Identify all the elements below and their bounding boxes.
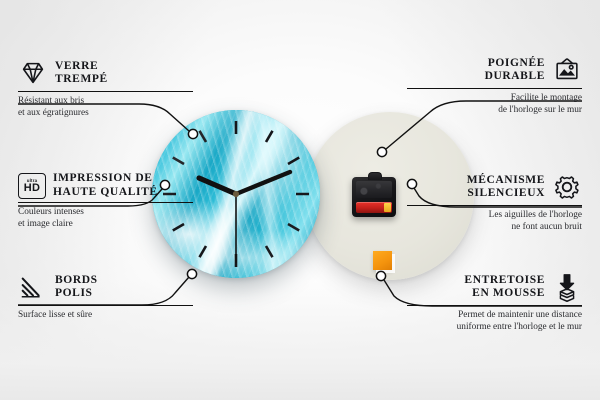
feature-desc-entretoise: Permet de maintenir une distance uniform… — [407, 310, 582, 333]
diamond-icon — [18, 58, 48, 88]
feature-mecanisme-silencieux[interactable]: MÉCANISME SILENCIEUX Les aiguilles de l'… — [407, 172, 582, 233]
feature-title-impression: IMPRESSION DE HAUTE QUALITÉ — [53, 172, 158, 199]
feature-title-poignee: POIGNÉE DURABLE — [485, 57, 545, 84]
feature-title-bords-polis: BORDS POLIS — [55, 274, 98, 301]
feature-title-verre-trempe: VERRE TREMPÉ — [55, 60, 108, 87]
picture-hanger-icon — [552, 55, 582, 85]
ultra-hd-icon-large-label: HD — [24, 183, 41, 194]
foam-spacer-icon — [552, 272, 582, 302]
feature-bords-polis[interactable]: BORDS POLIS Surface lisse et sûre — [18, 272, 193, 322]
feature-desc-mecanisme: Les aiguilles de l'horloge ne font aucun… — [407, 210, 582, 233]
feature-rule — [18, 202, 193, 203]
feature-rule — [18, 305, 193, 306]
feature-rule — [407, 88, 582, 89]
feature-entretoise-en-mousse[interactable]: ENTRETOISE EN MOUSSE Permet de maint — [407, 272, 582, 333]
feature-rule — [18, 91, 193, 92]
connector-dot-poignee — [377, 147, 386, 156]
feature-title-entretoise: ENTRETOISE EN MOUSSE — [464, 274, 545, 301]
feature-rule — [407, 305, 582, 306]
feature-desc-verre-trempe: Résistant aux bris et aux égratignures — [18, 96, 193, 119]
ultra-hd-icon: ultra HD — [18, 173, 46, 199]
connector-dot-verre-trempe — [188, 129, 197, 138]
feature-title-mecanisme: MÉCANISME SILENCIEUX — [467, 174, 545, 201]
feature-desc-bords-polis: Surface lisse et sûre — [18, 310, 193, 322]
feature-impression-haute-qualite[interactable]: ultra HD IMPRESSION DE HAUTE QUALITÉ Cou… — [18, 172, 193, 230]
connector-dot-entretoise — [376, 271, 385, 280]
feature-verre-trempe[interactable]: VERRE TREMPÉ Résistant aux bris et aux é… — [18, 58, 193, 119]
feature-poignee-durable[interactable]: POIGNÉE DURABLE Facilite le montage de l… — [407, 55, 582, 116]
infographic-canvas: VERRE TREMPÉ Résistant aux bris et aux é… — [0, 0, 600, 400]
polished-edges-icon — [18, 272, 48, 302]
feature-desc-poignee: Facilite le montage de l'horloge sur le … — [407, 93, 582, 116]
gear-icon — [552, 172, 582, 202]
feature-desc-impression: Couleurs intenses et image claire — [18, 207, 193, 230]
feature-rule — [407, 205, 582, 206]
